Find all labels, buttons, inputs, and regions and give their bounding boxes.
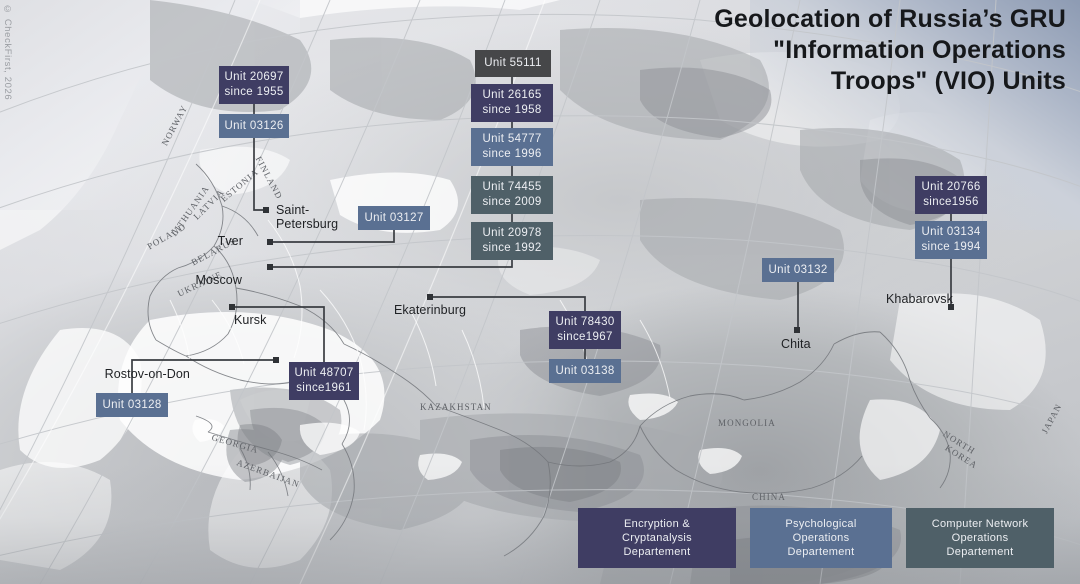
city-label: Ekaterinburg [394, 303, 466, 317]
unit-20978[interactable]: Unit 20978since 1992 [471, 222, 553, 260]
unit-name: Unit 03128 [102, 398, 161, 413]
city-dot [229, 304, 235, 310]
city-dot [794, 327, 800, 333]
city-dot [267, 239, 273, 245]
city-label: Saint-Petersburg [276, 203, 338, 231]
legend-item[interactable]: Psychological OperationsDepartement [750, 508, 892, 568]
unit-name: Unit 20697 [224, 70, 283, 85]
unit-since: since 1958 [482, 103, 541, 118]
unit-55111[interactable]: Unit 55111 [475, 50, 551, 77]
unit-name: Unit 03127 [364, 211, 423, 226]
copyright-notice: © CheckFirst, 2026 [2, 4, 13, 100]
unit-name: Unit 54777 [482, 132, 541, 147]
legend-item[interactable]: Computer NetworkOperations Departement [906, 508, 1054, 568]
unit-20697[interactable]: Unit 20697since 1955 [219, 66, 289, 104]
city-dot [273, 357, 279, 363]
unit-name: Unit 78430 [555, 315, 614, 330]
unit-since: since 1994 [921, 240, 980, 255]
unit-name: Unit 03132 [768, 263, 827, 278]
city-label: Chita [781, 337, 811, 351]
unit-name: Unit 20978 [482, 226, 541, 241]
unit-03126[interactable]: Unit 03126 [219, 114, 289, 138]
unit-03127[interactable]: Unit 03127 [358, 206, 430, 230]
unit-name: Unit 55111 [484, 56, 541, 71]
legend: Encryption & CryptanalysisDepartementPsy… [578, 508, 1054, 568]
city-label: Moscow [0, 273, 242, 287]
unit-78430[interactable]: Unit 78430since1967 [549, 311, 621, 349]
unit-since: since1967 [557, 330, 613, 345]
unit-name: Unit 48707 [294, 366, 353, 381]
unit-since: since 1992 [482, 241, 541, 256]
legend-label-line-1: Encryption & Cryptanalysis [590, 517, 724, 545]
unit-since: since1956 [923, 195, 979, 210]
unit-name: Unit 03138 [555, 364, 614, 379]
unit-name: Unit 03134 [921, 225, 980, 240]
legend-label-line-2: Departement [762, 545, 880, 559]
unit-03132[interactable]: Unit 03132 [762, 258, 834, 282]
city-dot [267, 264, 273, 270]
map-infographic: NORWAYFINLANDESTONIALATVIALITHUANIAPOLAN… [0, 0, 1080, 584]
unit-03134[interactable]: Unit 03134since 1994 [915, 221, 987, 259]
legend-label-line-1: Psychological Operations [762, 517, 880, 545]
unit-name: Unit 20766 [921, 180, 980, 195]
unit-03138[interactable]: Unit 03138 [549, 359, 621, 383]
title-line-1: Geolocation of Russia’s GRU [714, 4, 1066, 35]
unit-20766[interactable]: Unit 20766since1956 [915, 176, 987, 214]
unit-26165[interactable]: Unit 26165since 1958 [471, 84, 553, 122]
unit-name: Unit 74455 [482, 180, 541, 195]
page-title: Geolocation of Russia’s GRU "Information… [714, 4, 1066, 97]
unit-since: since 1996 [482, 147, 541, 162]
title-line-2: "Information Operations [714, 35, 1066, 66]
legend-item[interactable]: Encryption & CryptanalysisDepartement [578, 508, 736, 568]
legend-label-line-2: Operations Departement [918, 531, 1042, 559]
unit-48707[interactable]: Unit 48707since1961 [289, 362, 359, 400]
unit-since: since 2009 [482, 195, 541, 210]
unit-03128[interactable]: Unit 03128 [96, 393, 168, 417]
unit-54777[interactable]: Unit 54777since 1996 [471, 128, 553, 166]
legend-label-line-2: Departement [590, 545, 724, 559]
unit-since: since1961 [296, 381, 352, 396]
city-dot [263, 207, 269, 213]
city-label: Tver [0, 234, 243, 248]
city-label: Khabarovsk [886, 292, 953, 306]
city-label: Kursk [234, 313, 266, 327]
unit-name: Unit 26165 [482, 88, 541, 103]
unit-name: Unit 03126 [224, 119, 283, 134]
legend-label-line-1: Computer Network [918, 517, 1042, 531]
title-line-3: Troops" (VIO) Units [714, 66, 1066, 97]
city-dot [427, 294, 433, 300]
city-label: Rostov-on-Don [0, 367, 190, 381]
unit-since: since 1955 [224, 85, 283, 100]
unit-74455[interactable]: Unit 74455since 2009 [471, 176, 553, 214]
